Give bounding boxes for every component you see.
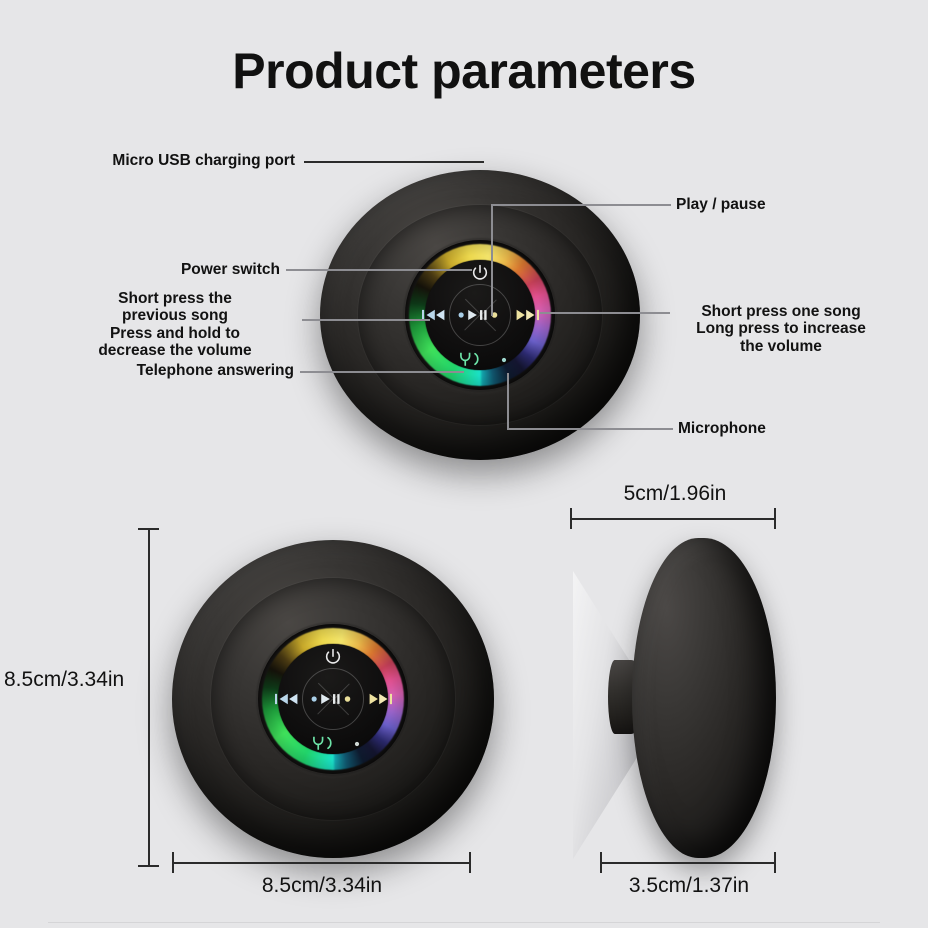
product-parameters-diagram: Product parameters — [0, 0, 928, 928]
speaker-side-view — [632, 538, 776, 858]
callout-previous-song-label: Short press the previous song Press and … — [56, 290, 294, 359]
dimension-side-depth-label: 3.5cm/1.37in — [596, 874, 782, 898]
bottom-divider — [48, 922, 880, 923]
leader-previous-song — [302, 319, 430, 321]
play-pause-icon[interactable] — [458, 308, 502, 322]
speaker-front-view-dimensioned — [172, 540, 494, 858]
spoke-se — [465, 299, 481, 315]
dimension-side-height-cap-right — [774, 508, 776, 529]
spoke2-nw — [333, 699, 349, 715]
previous-track-icon-2[interactable] — [275, 692, 299, 706]
dimension-width-cap-right — [469, 852, 471, 873]
microphone-dot — [501, 357, 507, 363]
telephone-icon[interactable] — [458, 351, 484, 367]
dimension-height-cap-top — [138, 528, 159, 530]
dimension-side-depth-cap-left — [600, 852, 602, 873]
callout-next-song-label: Short press one song Long press to incre… — [672, 303, 890, 355]
control-pod-2 — [258, 624, 408, 774]
spoke2-ne — [317, 698, 333, 714]
telephone-icon-2[interactable] — [311, 735, 337, 751]
leader-microphone-horizontal — [507, 428, 673, 430]
dimension-side-depth-cap-right — [774, 852, 776, 873]
rgb-light-ring-2 — [262, 628, 404, 770]
callout-telephone-label: Telephone answering — [60, 362, 294, 379]
power-icon-2[interactable] — [323, 647, 343, 667]
spoke2-sw — [334, 683, 350, 699]
spoke-nw — [480, 315, 496, 331]
leader-telephone — [300, 371, 464, 373]
center-circle-outline-2 — [302, 668, 364, 730]
leader-power-switch — [286, 269, 472, 271]
power-icon[interactable] — [470, 263, 490, 283]
dimension-height-cap-bottom — [138, 865, 159, 867]
dimension-side-height-cap-left — [570, 508, 572, 529]
dimension-side-height-line — [570, 518, 776, 520]
next-track-icon-2[interactable] — [368, 692, 392, 706]
callout-play-pause-label: Play / pause — [676, 196, 876, 213]
spoke-ne — [464, 314, 480, 330]
dimension-width-cap-left — [172, 852, 174, 873]
speaker-front-view-annotated — [320, 170, 640, 460]
spoke-sw — [481, 299, 497, 315]
leader-play-pause-vertical — [491, 205, 493, 316]
dimension-side-depth-line — [600, 862, 776, 864]
next-track-icon[interactable] — [515, 308, 539, 322]
leader-micro-usb — [304, 161, 484, 163]
center-circle-outline — [449, 284, 511, 346]
callout-micro-usb-label: Micro USB charging port — [60, 152, 295, 169]
control-face-2 — [278, 644, 388, 754]
dimension-front-width-label: 8.5cm/3.34in — [200, 874, 444, 898]
callout-power-switch-label: Power switch — [120, 261, 280, 278]
dimension-width-line — [172, 862, 470, 864]
leader-microphone-vertical — [507, 373, 509, 429]
control-face — [425, 260, 535, 370]
leader-next-song — [540, 312, 670, 314]
dimension-front-height-label: 8.5cm/3.34in — [4, 668, 144, 692]
rgb-light-ring — [409, 244, 551, 386]
dimension-height-line — [148, 528, 150, 866]
dimension-side-height-label: 5cm/1.96in — [585, 482, 765, 506]
page-title: Product parameters — [0, 42, 928, 100]
control-pod — [405, 240, 555, 390]
play-pause-icon-2[interactable] — [311, 692, 355, 706]
callout-microphone-label: Microphone — [678, 420, 878, 437]
spoke2-se — [318, 683, 334, 699]
leader-play-pause-horizontal — [491, 204, 671, 206]
microphone-dot-2 — [354, 741, 360, 747]
